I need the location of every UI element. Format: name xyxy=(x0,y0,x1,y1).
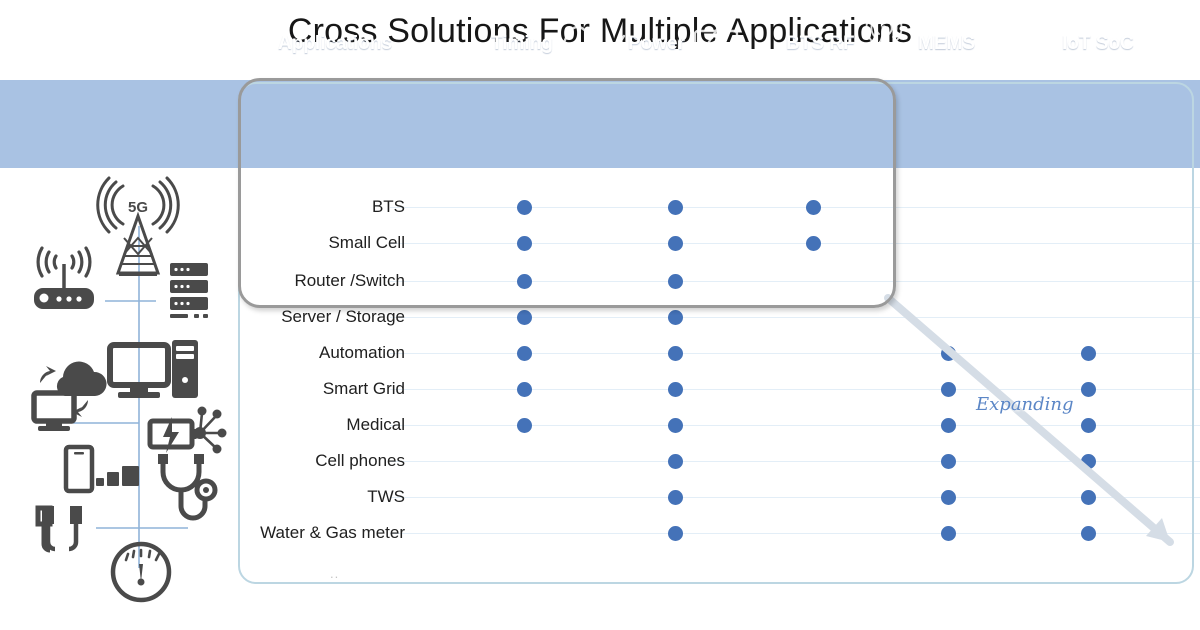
gauge-meter-icon xyxy=(113,544,169,600)
gears-icon xyxy=(982,12,1040,76)
header-label-power: Power xyxy=(628,33,685,55)
matrix-dot xyxy=(517,274,532,289)
header-cell-mems: MEMS xyxy=(918,0,1040,88)
matrix-dot xyxy=(941,382,956,397)
matrix-dot xyxy=(668,454,683,469)
row-label: Cell phones xyxy=(230,451,405,471)
row-label: Water & Gas meter xyxy=(230,523,405,543)
matrix-dot xyxy=(668,200,683,215)
matrix-dot xyxy=(1081,454,1096,469)
matrix-dot xyxy=(941,526,956,541)
table-row: Cell phones xyxy=(230,443,1200,479)
row-guide-line xyxy=(390,353,1200,354)
sine-wave-icon xyxy=(560,24,630,64)
matrix-dot xyxy=(668,526,683,541)
matrix-dot xyxy=(1081,346,1096,361)
matrix-dot xyxy=(517,382,532,397)
row-guide-line xyxy=(390,243,1200,244)
svg-text:5G: 5G xyxy=(128,199,148,216)
matrix-dot xyxy=(1081,526,1096,541)
row-label: BTS xyxy=(230,197,405,217)
matrix-dot xyxy=(668,418,683,433)
smartphone-icon xyxy=(66,447,139,491)
row-guide-line xyxy=(390,425,1200,426)
table-row: Small Cell xyxy=(230,225,1200,261)
header-label-applications: Applications xyxy=(278,33,392,55)
row-guide-line xyxy=(390,207,1200,208)
header-label-mems: MEMS xyxy=(918,33,975,55)
microchip-icon xyxy=(1141,13,1191,75)
clipped-row-label: .. xyxy=(330,566,339,581)
matrix-dot xyxy=(668,490,683,505)
matrix-dot xyxy=(668,346,683,361)
matrix-dot xyxy=(668,236,683,251)
matrix-dot xyxy=(517,236,532,251)
header-cell-iot-soc: IoT SoC xyxy=(1062,0,1191,88)
header-cell-bts-rf: BTS RF xyxy=(786,0,906,88)
matrix-dot xyxy=(941,346,956,361)
row-label: Medical xyxy=(230,415,405,435)
matrix-dot xyxy=(1081,490,1096,505)
matrix-dot xyxy=(1081,382,1096,397)
matrix-dot xyxy=(941,454,956,469)
matrix-dot xyxy=(941,418,956,433)
row-guide-line xyxy=(390,281,1200,282)
battery-iot-network-icon xyxy=(150,407,227,454)
applications-illustration: 5G xyxy=(0,168,236,608)
desktop-computer-icon xyxy=(110,340,198,398)
table-row: Automation xyxy=(230,335,1200,371)
matrix-dot xyxy=(668,274,683,289)
matrix-dot xyxy=(668,382,683,397)
expanding-label: Expanding xyxy=(976,394,1074,415)
row-label: Smart Grid xyxy=(230,379,405,399)
row-label: Server / Storage xyxy=(230,307,405,327)
matrix-dot xyxy=(668,310,683,325)
matrix-dot xyxy=(1081,418,1096,433)
battery-bolt-icon xyxy=(692,23,748,65)
header-label-timing: Timing xyxy=(491,33,553,55)
table-row: Server / Storage xyxy=(230,299,1200,335)
header-cell-applications: Applications xyxy=(278,0,392,88)
matrix-dot xyxy=(806,236,821,251)
matrix-dot xyxy=(517,346,532,361)
cell-tower-icon xyxy=(862,15,906,73)
header-label-iot-soc: IoT SoC xyxy=(1062,33,1134,55)
row-guide-line xyxy=(390,389,1200,390)
row-guide-line xyxy=(390,533,1200,534)
row-label: Automation xyxy=(230,343,405,363)
earbuds-icon xyxy=(38,506,82,550)
server-rack-icon xyxy=(170,263,208,318)
header-label-bts-rf: BTS RF xyxy=(786,33,855,55)
column-header-band xyxy=(0,80,1200,168)
stethoscope-icon xyxy=(158,454,215,518)
row-label: Small Cell xyxy=(230,233,405,253)
matrix-dot xyxy=(941,490,956,505)
wifi-router-icon xyxy=(34,248,94,309)
table-row: BTS xyxy=(230,189,1200,225)
table-row: Water & Gas meter xyxy=(230,515,1200,551)
matrix-dot xyxy=(806,200,821,215)
header-cell-timing: Timing xyxy=(491,0,630,88)
table-row: TWS xyxy=(230,479,1200,515)
row-label: Router /Switch xyxy=(230,271,405,291)
applications-matrix: BTSSmall CellRouter /SwitchServer / Stor… xyxy=(230,168,1200,583)
row-guide-line xyxy=(390,461,1200,462)
matrix-dot xyxy=(517,310,532,325)
header-cell-power: Power xyxy=(628,0,748,88)
row-guide-line xyxy=(390,317,1200,318)
illustration-svg: 5G xyxy=(0,168,236,608)
table-row: Router /Switch xyxy=(230,263,1200,299)
5g-tower-icon: 5G xyxy=(98,178,179,276)
matrix-dot xyxy=(517,418,532,433)
row-label: TWS xyxy=(230,487,405,507)
cloud-sync-icon xyxy=(34,362,107,431)
row-guide-line xyxy=(390,497,1200,498)
matrix-dot xyxy=(517,200,532,215)
